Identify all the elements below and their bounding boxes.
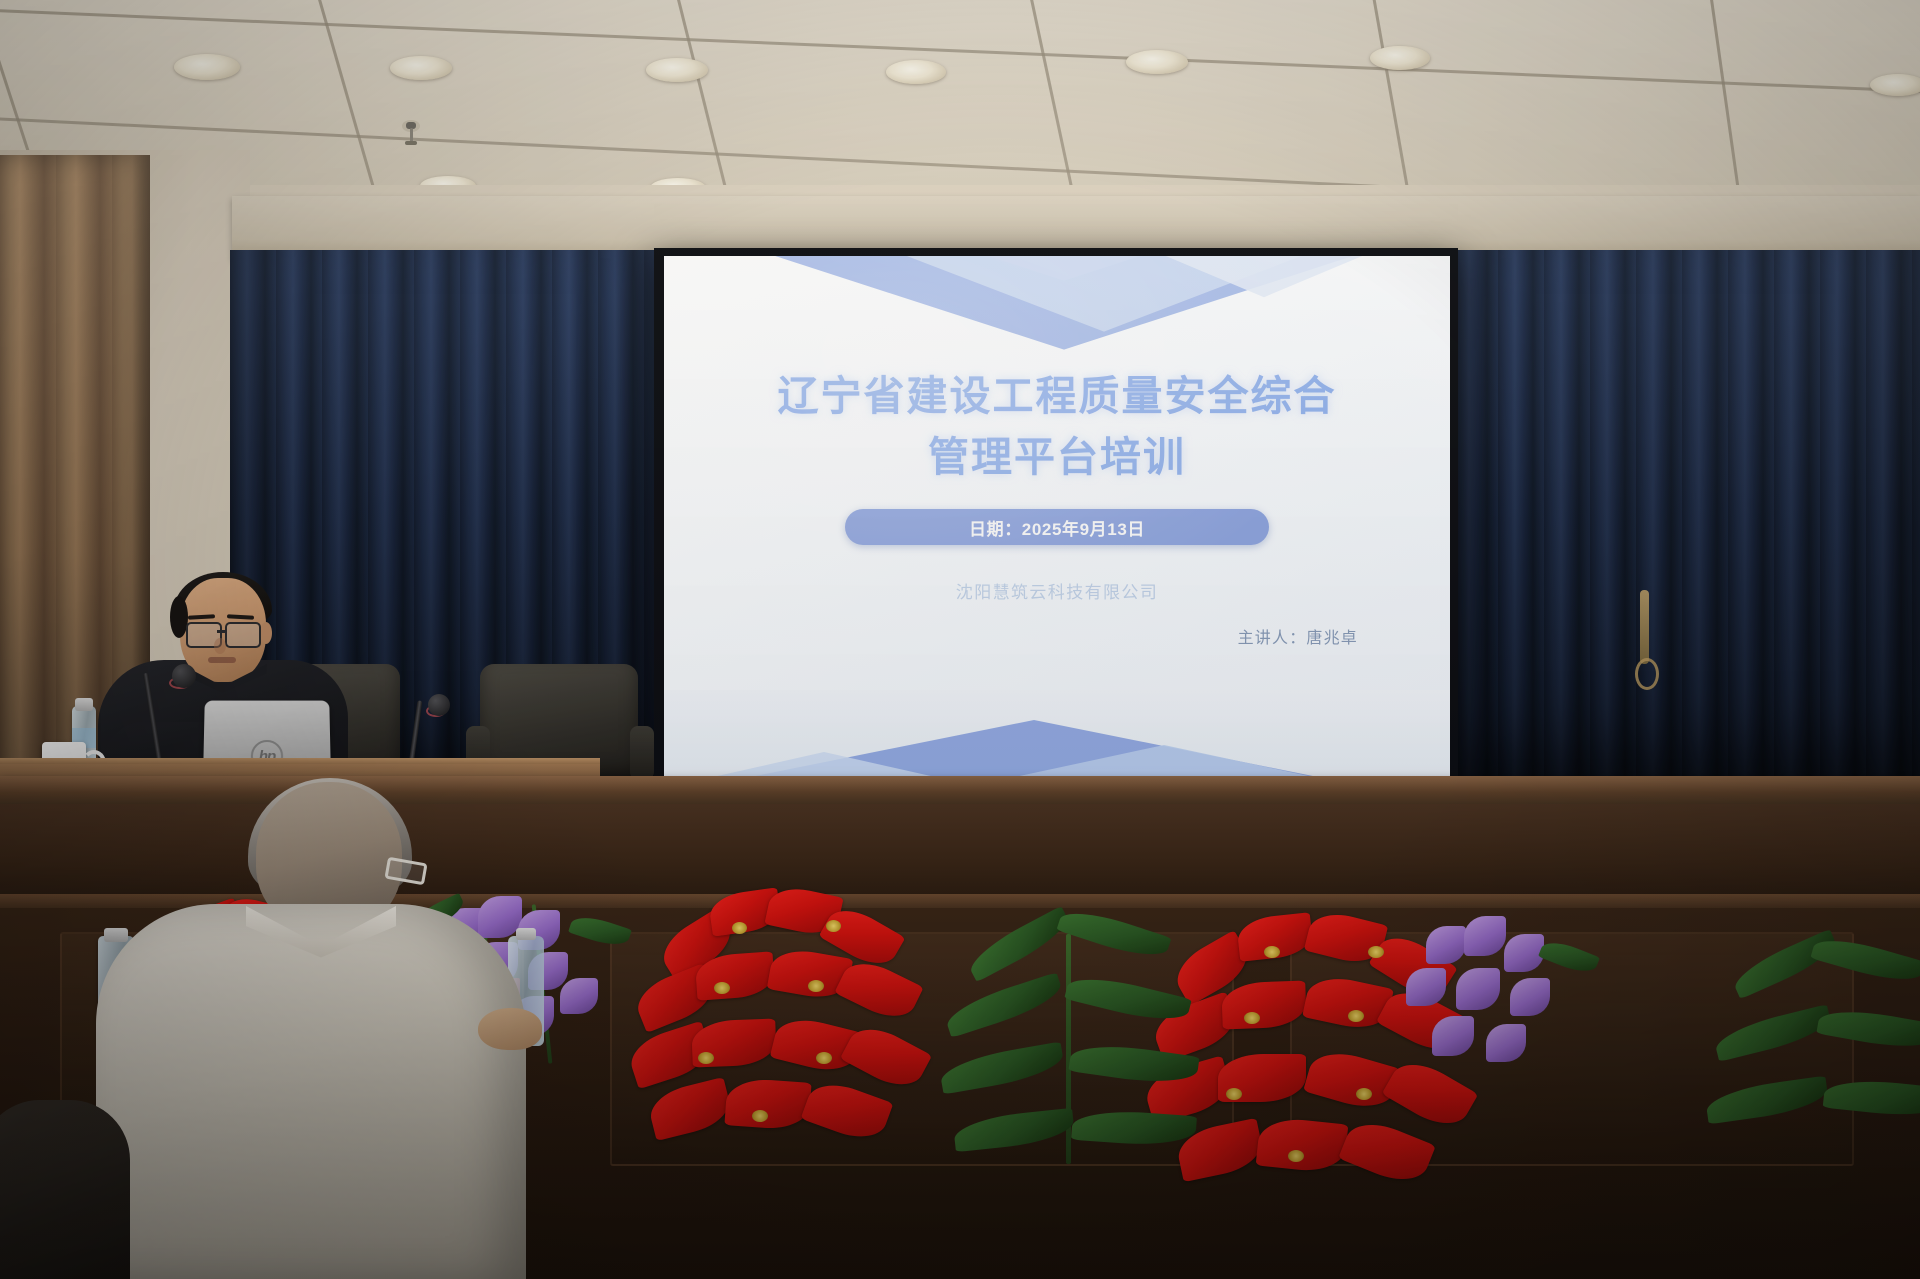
flower-center xyxy=(714,982,730,994)
recessed-downlight xyxy=(1870,74,1920,96)
slide-title-line2: 管理平台培训 xyxy=(664,427,1450,488)
flower-center xyxy=(1356,1088,1372,1100)
stage-curtain-right xyxy=(1452,250,1920,795)
flower-center xyxy=(752,1110,768,1122)
presenter-nose xyxy=(214,638,226,654)
green-leaf xyxy=(1729,929,1841,999)
red-petal xyxy=(1256,1116,1349,1175)
audience-member-left xyxy=(0,1100,130,1279)
flower-center xyxy=(698,1052,714,1064)
recessed-downlight xyxy=(886,60,946,84)
green-leaf xyxy=(1064,969,1192,1028)
slide-title: 辽宁省建设工程质量安全综合 管理平台培训 xyxy=(664,366,1450,487)
projection-screen: 辽宁省建设工程质量安全综合 管理平台培训 日期：2025年9月13日 沈阳慧筑云… xyxy=(664,256,1450,692)
flower-center xyxy=(732,922,747,934)
flower-center xyxy=(1244,1012,1260,1024)
red-petal xyxy=(801,1075,894,1146)
green-leaf xyxy=(1823,1076,1920,1121)
flower-center xyxy=(1348,1010,1364,1022)
flower-center xyxy=(1264,946,1280,958)
purple-petal xyxy=(1486,1024,1526,1062)
slide-company-name: 沈阳慧筑云科技有限公司 xyxy=(664,578,1450,603)
purple-petal xyxy=(1456,968,1500,1010)
red-petal xyxy=(646,1077,735,1141)
green-leaf xyxy=(964,906,1074,982)
green-leaf xyxy=(1704,1076,1829,1125)
curtain-tieback-loop xyxy=(1635,658,1659,690)
audience-shirt xyxy=(96,904,526,1279)
water-bottle-cap xyxy=(75,698,93,711)
green-leaf xyxy=(1071,1108,1197,1149)
glasses-bridge xyxy=(217,630,226,633)
purple-petal xyxy=(1406,968,1446,1006)
red-petal xyxy=(1302,972,1394,1034)
slide-title-line1: 辽宁省建设工程质量安全综合 xyxy=(778,373,1337,419)
red-petal xyxy=(840,1018,932,1096)
microphone-head xyxy=(172,664,196,688)
slide-date-text: 日期：2025年9月13日 xyxy=(969,515,1145,540)
red-petal xyxy=(724,1077,811,1131)
purple-petal xyxy=(1510,978,1550,1016)
purple-petal xyxy=(1464,916,1506,956)
slide-presenter-name: 主讲人：唐兆卓 xyxy=(1238,624,1358,648)
green-foliage-bouquet xyxy=(940,896,1240,1196)
fire-sprinkler-icon xyxy=(406,122,416,148)
recessed-downlight xyxy=(646,58,708,82)
green-leaf xyxy=(1056,903,1171,964)
red-poinsettia-bouquet xyxy=(640,880,940,1170)
purple-petal xyxy=(1426,926,1466,964)
presenter-mouth xyxy=(208,657,236,663)
green-leaf xyxy=(953,1108,1076,1152)
green-leaf xyxy=(1712,1004,1834,1062)
microphone-head xyxy=(428,694,450,716)
red-petal xyxy=(1303,1045,1401,1115)
purple-flower-bouquet xyxy=(1400,912,1640,1132)
green-leaf xyxy=(1816,1004,1920,1054)
flower-center xyxy=(826,920,841,932)
slide-content: 辽宁省建设工程质量安全综合 管理平台培训 日期：2025年9月13日 沈阳慧筑云… xyxy=(664,256,1450,692)
recessed-downlight xyxy=(1126,50,1188,74)
recessed-downlight xyxy=(174,54,240,80)
green-leaf xyxy=(1068,1039,1199,1089)
green-foliage-bouquet xyxy=(1700,930,1920,1210)
recessed-downlight xyxy=(1370,46,1430,70)
presenter-ear xyxy=(260,622,272,644)
green-leaf xyxy=(938,1041,1066,1094)
glasses-lens-right xyxy=(225,622,261,648)
audience-member-front xyxy=(96,782,536,1279)
flower-center xyxy=(1288,1150,1304,1162)
green-leaf xyxy=(568,911,632,950)
flower-center xyxy=(1368,946,1384,958)
curtain-tieback xyxy=(1640,590,1649,664)
slide-date-badge: 日期：2025年9月13日 xyxy=(845,509,1269,545)
green-leaf xyxy=(1538,936,1600,978)
chair-armrest xyxy=(630,726,654,780)
purple-petal xyxy=(1432,1016,1474,1056)
flower-center xyxy=(808,980,824,992)
audience-hand xyxy=(478,1008,542,1050)
flower-center xyxy=(816,1052,832,1064)
conference-room-photo: 辽宁省建设工程质量安全综合 管理平台培训 日期：2025年9月13日 沈阳慧筑云… xyxy=(0,0,1920,1279)
green-leaf xyxy=(942,972,1065,1038)
recessed-downlight xyxy=(390,56,452,80)
purple-petal xyxy=(560,978,598,1014)
